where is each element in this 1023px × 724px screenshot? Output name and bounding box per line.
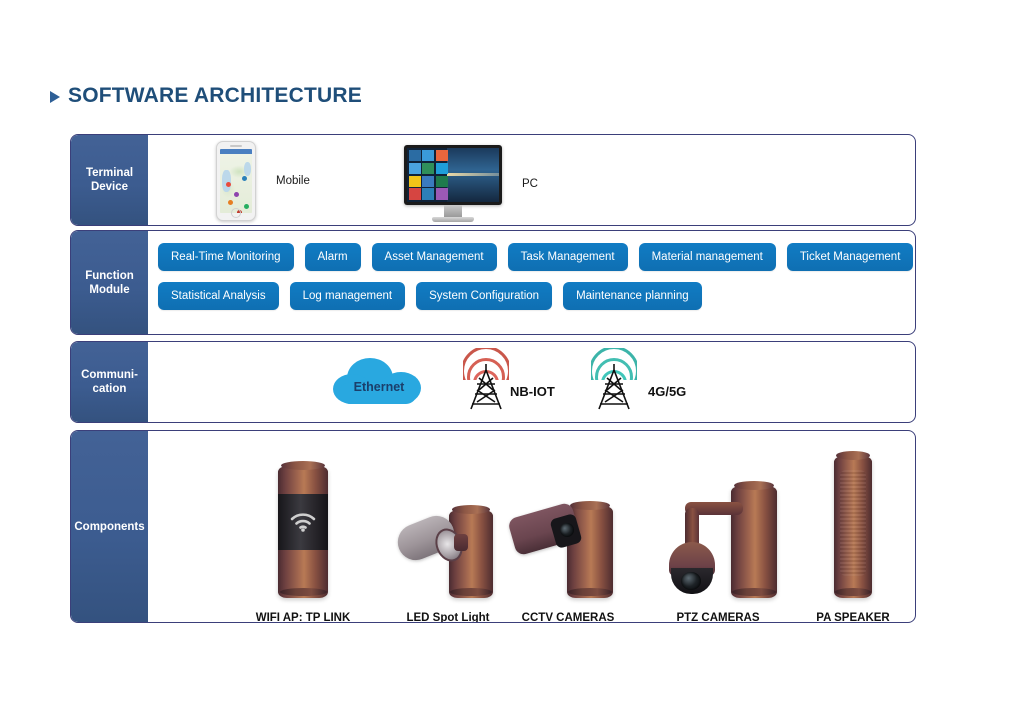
row-label-terminal-device: Terminal Device <box>71 135 148 225</box>
component-led-spot-light-caption: LED Spot Light <box>406 612 489 623</box>
bullet-camera-icon <box>509 494 627 598</box>
function-button-material-management[interactable]: Material management <box>639 243 776 271</box>
component-em-ptt: EM PTT <box>893 431 916 623</box>
terminal-device-mobile: Mobile <box>216 141 310 221</box>
row-function-module: Function Module Real-Time Monitoring Ala… <box>70 230 916 335</box>
function-button-task-management[interactable]: Task Management <box>508 243 628 271</box>
communication-nb-iot-caption: NB-IOT <box>510 384 555 399</box>
function-button-maintenance-planning[interactable]: Maintenance planning <box>563 282 702 310</box>
terminal-device-pc-caption: PC <box>522 178 538 190</box>
function-buttons-row-2: Statistical Analysis Log management Syst… <box>158 282 909 310</box>
component-ptz-camera: PTZ CAMERAS <box>638 431 798 623</box>
smartphone-map-icon <box>216 141 256 221</box>
terminal-device-mobile-caption: Mobile <box>276 175 310 187</box>
page-title: SOFTWARE ARCHITECTURE <box>50 84 362 108</box>
tower-mast-icon <box>466 364 506 410</box>
ptz-camera-art <box>653 480 783 598</box>
wifi-icon <box>278 466 328 598</box>
row-label-components: Components <box>71 431 148 622</box>
chevron-right-icon <box>50 91 60 103</box>
row-label-line-2: Device <box>91 181 128 193</box>
function-button-log-management[interactable]: Log management <box>290 282 406 310</box>
row-body-components: WIFI AP: TP LINK LED Spot Light <box>148 431 915 622</box>
communication-4g-5g-caption: 4G/5G <box>648 384 686 399</box>
function-button-ticket-management[interactable]: Ticket Management <box>787 243 914 271</box>
function-button-real-time-monitoring[interactable]: Real-Time Monitoring <box>158 243 294 271</box>
communication-4g-5g: 4G/5G <box>586 348 682 410</box>
row-body-terminal-device: Mobile <box>148 135 915 225</box>
pa-speaker-art <box>834 456 872 598</box>
wifi-ap-art <box>278 466 328 598</box>
row-label-line-2: Module <box>89 284 129 296</box>
monitor-icon <box>404 145 502 222</box>
wifi-glyph-icon <box>290 512 316 532</box>
component-cctv-camera: CCTV CAMERAS <box>493 431 643 623</box>
row-label-function-module: Function Module <box>71 231 148 334</box>
row-label-line-1: Function <box>85 270 134 282</box>
function-button-asset-management[interactable]: Asset Management <box>372 243 497 271</box>
led-spot-light-art <box>393 498 503 598</box>
function-button-statistical-analysis[interactable]: Statistical Analysis <box>158 282 279 310</box>
cctv-camera-art <box>509 494 627 598</box>
function-button-system-configuration[interactable]: System Configuration <box>416 282 552 310</box>
row-body-communication: Ethernet <box>148 342 915 422</box>
communication-nb-iot: NB-IOT <box>458 348 561 410</box>
row-label-line-1: Components <box>74 520 144 534</box>
row-communication: Communi- cation Ethernet <box>70 341 916 423</box>
component-pa-speaker-caption: PA SPEAKER <box>816 612 890 623</box>
component-wifi-ap-caption: WIFI AP: TP LINK <box>256 612 351 623</box>
row-terminal-device: Terminal Device <box>70 134 916 226</box>
row-components: Components <box>70 430 916 623</box>
speaker-icon <box>834 456 872 598</box>
row-body-function-module: Real-Time Monitoring Alarm Asset Managem… <box>148 231 915 334</box>
page-title-text: SOFTWARE ARCHITECTURE <box>68 84 362 108</box>
row-label-line-2: cation <box>93 383 127 395</box>
tower-mast-icon <box>594 364 634 410</box>
function-button-alarm[interactable]: Alarm <box>305 243 361 271</box>
radio-tower-icon <box>458 348 514 410</box>
dome-camera-icon <box>653 480 783 598</box>
spotlight-icon <box>393 498 503 598</box>
component-wifi-ap: WIFI AP: TP LINK <box>223 431 383 623</box>
radio-tower-icon <box>586 348 642 410</box>
row-label-line-1: Communi- <box>81 369 138 381</box>
row-label-line-1: Terminal <box>86 167 133 179</box>
function-buttons-row-1: Real-Time Monitoring Alarm Asset Managem… <box>158 243 909 271</box>
component-ptz-camera-caption: PTZ CAMERAS <box>676 612 759 623</box>
slide-canvas: SOFTWARE ARCHITECTURE Terminal Device <box>0 0 1023 724</box>
component-cctv-camera-caption: CCTV CAMERAS <box>522 612 615 623</box>
terminal-device-pc: PC <box>404 145 538 222</box>
communication-ethernet: Ethernet <box>333 356 425 406</box>
row-label-communication: Communi- cation <box>71 342 148 422</box>
communication-ethernet-caption: Ethernet <box>333 380 425 394</box>
cloud-icon: Ethernet <box>333 356 425 406</box>
